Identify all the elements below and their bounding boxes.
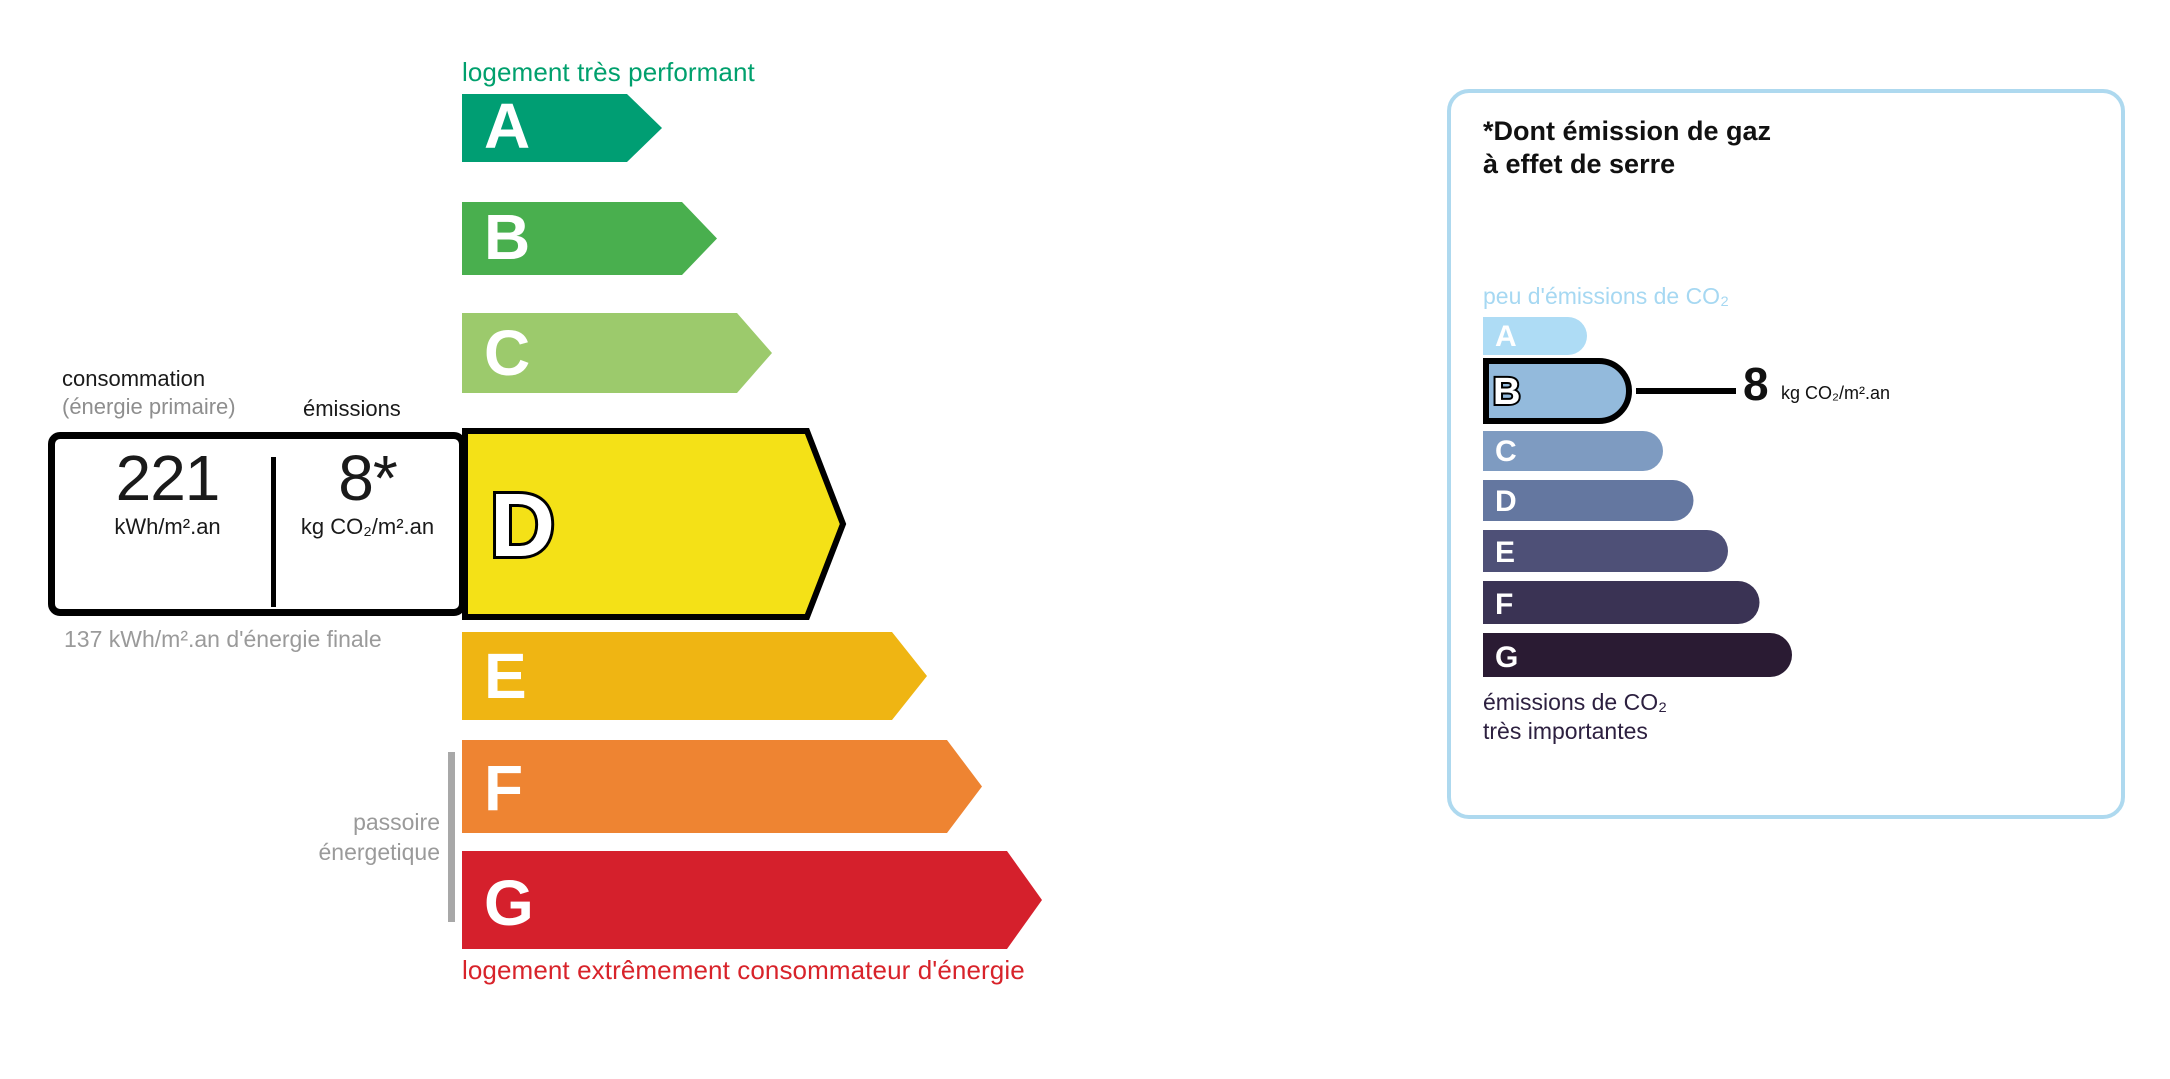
- co2-value: 8: [1743, 357, 1769, 411]
- caption-very-efficient: logement très performant: [462, 57, 755, 88]
- co2-row-A-letter: A: [1495, 320, 1517, 353]
- energy-band-G[interactable]: G: [462, 851, 1042, 949]
- co2-caption-high: émissions de CO₂ très importantes: [1483, 688, 1667, 746]
- band-B-letter: B: [484, 201, 530, 273]
- energy-band-A[interactable]: A: [462, 94, 662, 162]
- band-F-shape: [462, 740, 982, 833]
- header-emissions: émissions: [303, 395, 401, 423]
- energy-band-F[interactable]: F: [462, 740, 982, 833]
- co2-row-F-shape: [1483, 581, 1760, 624]
- final-energy-note: 137 kWh/m².an d'énergie finale: [64, 625, 382, 655]
- band-D-letter: D: [490, 476, 555, 576]
- co2-row-F-letter: F: [1495, 588, 1513, 621]
- band-A-letter: A: [484, 90, 530, 162]
- co2-leader-line: [1636, 388, 1736, 394]
- co2-row-G-shape: [1483, 633, 1792, 677]
- co2-value-unit: kg CO₂/m².an: [1781, 383, 1890, 404]
- emissions-value: 8*: [280, 445, 455, 512]
- band-C-letter: C: [484, 317, 530, 389]
- co2-row-G-letter: G: [1495, 641, 1518, 674]
- co2-row-D[interactable]: D: [1483, 480, 1698, 521]
- band-E-shape: [462, 632, 927, 720]
- energy-band-B[interactable]: B: [462, 202, 717, 275]
- band-E-letter: E: [484, 640, 527, 712]
- co2-row-A[interactable]: A: [1483, 317, 1593, 355]
- co2-row-E-shape: [1483, 530, 1728, 572]
- consumption-cell: 221 kWh/m².an: [65, 445, 270, 540]
- header-consumption-sub: (énergie primaire): [62, 393, 236, 421]
- emissions-unit: kg CO₂/m².an: [280, 514, 455, 540]
- energy-band-E[interactable]: E: [462, 632, 927, 720]
- consumption-unit: kWh/m².an: [65, 514, 270, 540]
- value-box: 221 kWh/m².an 8* kg CO₂/m².an: [48, 432, 466, 616]
- header-consumption: consommation (énergie primaire): [62, 365, 236, 420]
- energy-band-D-selected[interactable]: D: [462, 428, 847, 620]
- co2-panel-title: *Dont émission de gaz à effet de serre: [1483, 115, 1771, 181]
- co2-row-E-letter: E: [1495, 536, 1515, 569]
- co2-row-B-letter: B: [1493, 371, 1520, 413]
- co2-row-G[interactable]: G: [1483, 633, 1798, 677]
- co2-row-C-letter: C: [1495, 435, 1517, 468]
- co2-caption-low: peu d'émissions de CO₂: [1483, 283, 1729, 310]
- passoire-energetique-label: passoire énergetique: [250, 808, 440, 868]
- co2-row-D-letter: D: [1495, 485, 1517, 518]
- value-box-divider: [271, 457, 276, 607]
- energy-performance-ladder: logement très performant A B C D E: [0, 0, 1400, 1079]
- consumption-value: 221: [65, 445, 270, 512]
- header-consumption-main: consommation: [62, 366, 205, 391]
- band-F-letter: F: [484, 752, 523, 824]
- passoire-bracket: [448, 752, 455, 922]
- band-G-letter: G: [484, 867, 534, 939]
- co2-row-C[interactable]: C: [1483, 431, 1668, 471]
- co2-row-F[interactable]: F: [1483, 581, 1765, 624]
- co2-row-E[interactable]: E: [1483, 530, 1733, 572]
- band-G-shape: [462, 851, 1042, 949]
- co2-row-B-selected[interactable]: B: [1483, 358, 1635, 424]
- emissions-cell: 8* kg CO₂/m².an: [280, 445, 455, 540]
- co2-emissions-panel: *Dont émission de gaz à effet de serre p…: [1447, 89, 2125, 819]
- energy-band-C[interactable]: C: [462, 313, 772, 393]
- caption-extreme-consumer: logement extrêmement consommateur d'éner…: [462, 955, 1025, 986]
